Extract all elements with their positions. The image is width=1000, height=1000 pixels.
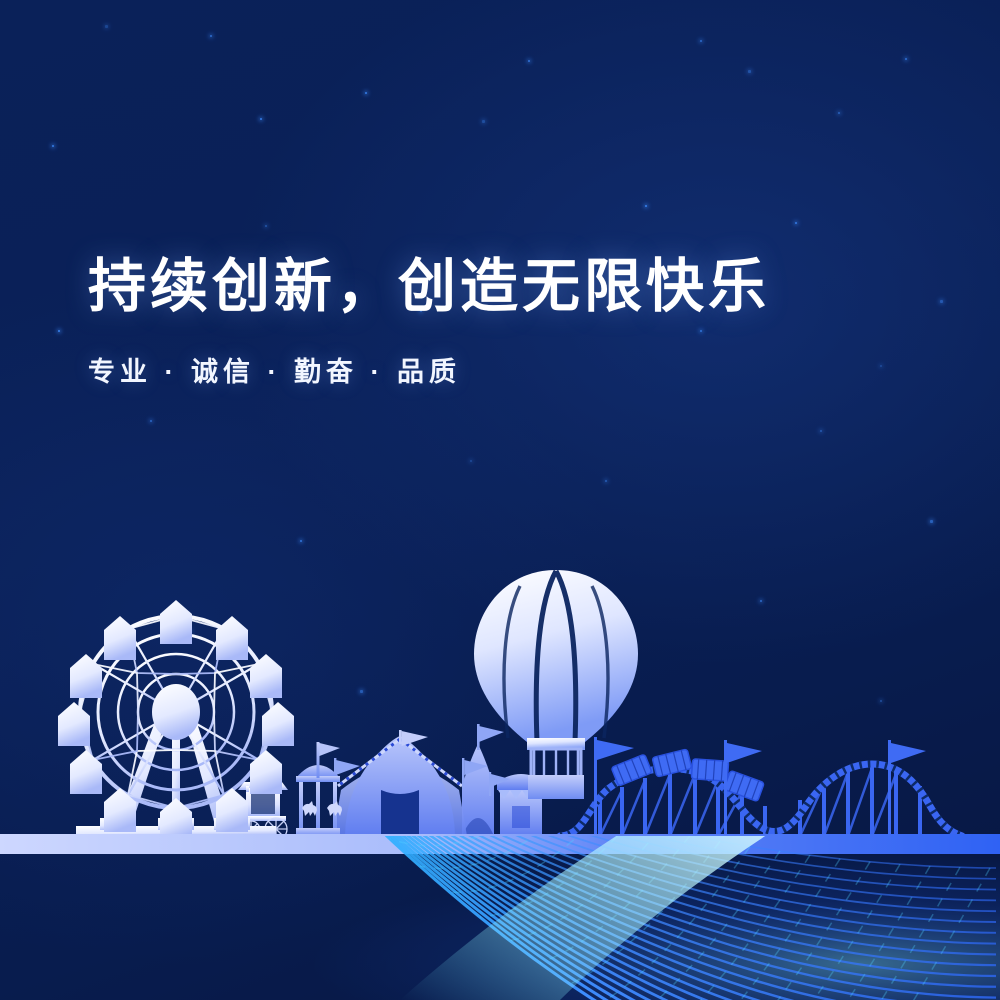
wave-cross-line	[120, 538, 270, 703]
wave-cross-line	[30, 416, 180, 662]
wave-cross-line	[180, 613, 330, 728]
wave-cross-line	[60, 458, 210, 676]
poster-text-block: 持续创新，创造无限快乐 专业 · 诚信 · 勤奋 · 品质	[88, 258, 770, 389]
wave-cross-line	[210, 649, 360, 740]
glowing-wave-mesh	[0, 0, 1000, 1000]
poster-headline: 持续创新，创造无限快乐	[88, 258, 770, 316]
wave-cross-line	[240, 684, 390, 754]
wave-cross-line	[270, 717, 420, 769]
poster-canvas	[0, 0, 1000, 1000]
wave-cross-line	[150, 576, 300, 716]
poster-subline: 专业 · 诚信 · 勤奋 · 品质	[88, 350, 770, 389]
wave-cross-line	[300, 750, 450, 787]
wave-cross-line	[90, 499, 240, 690]
